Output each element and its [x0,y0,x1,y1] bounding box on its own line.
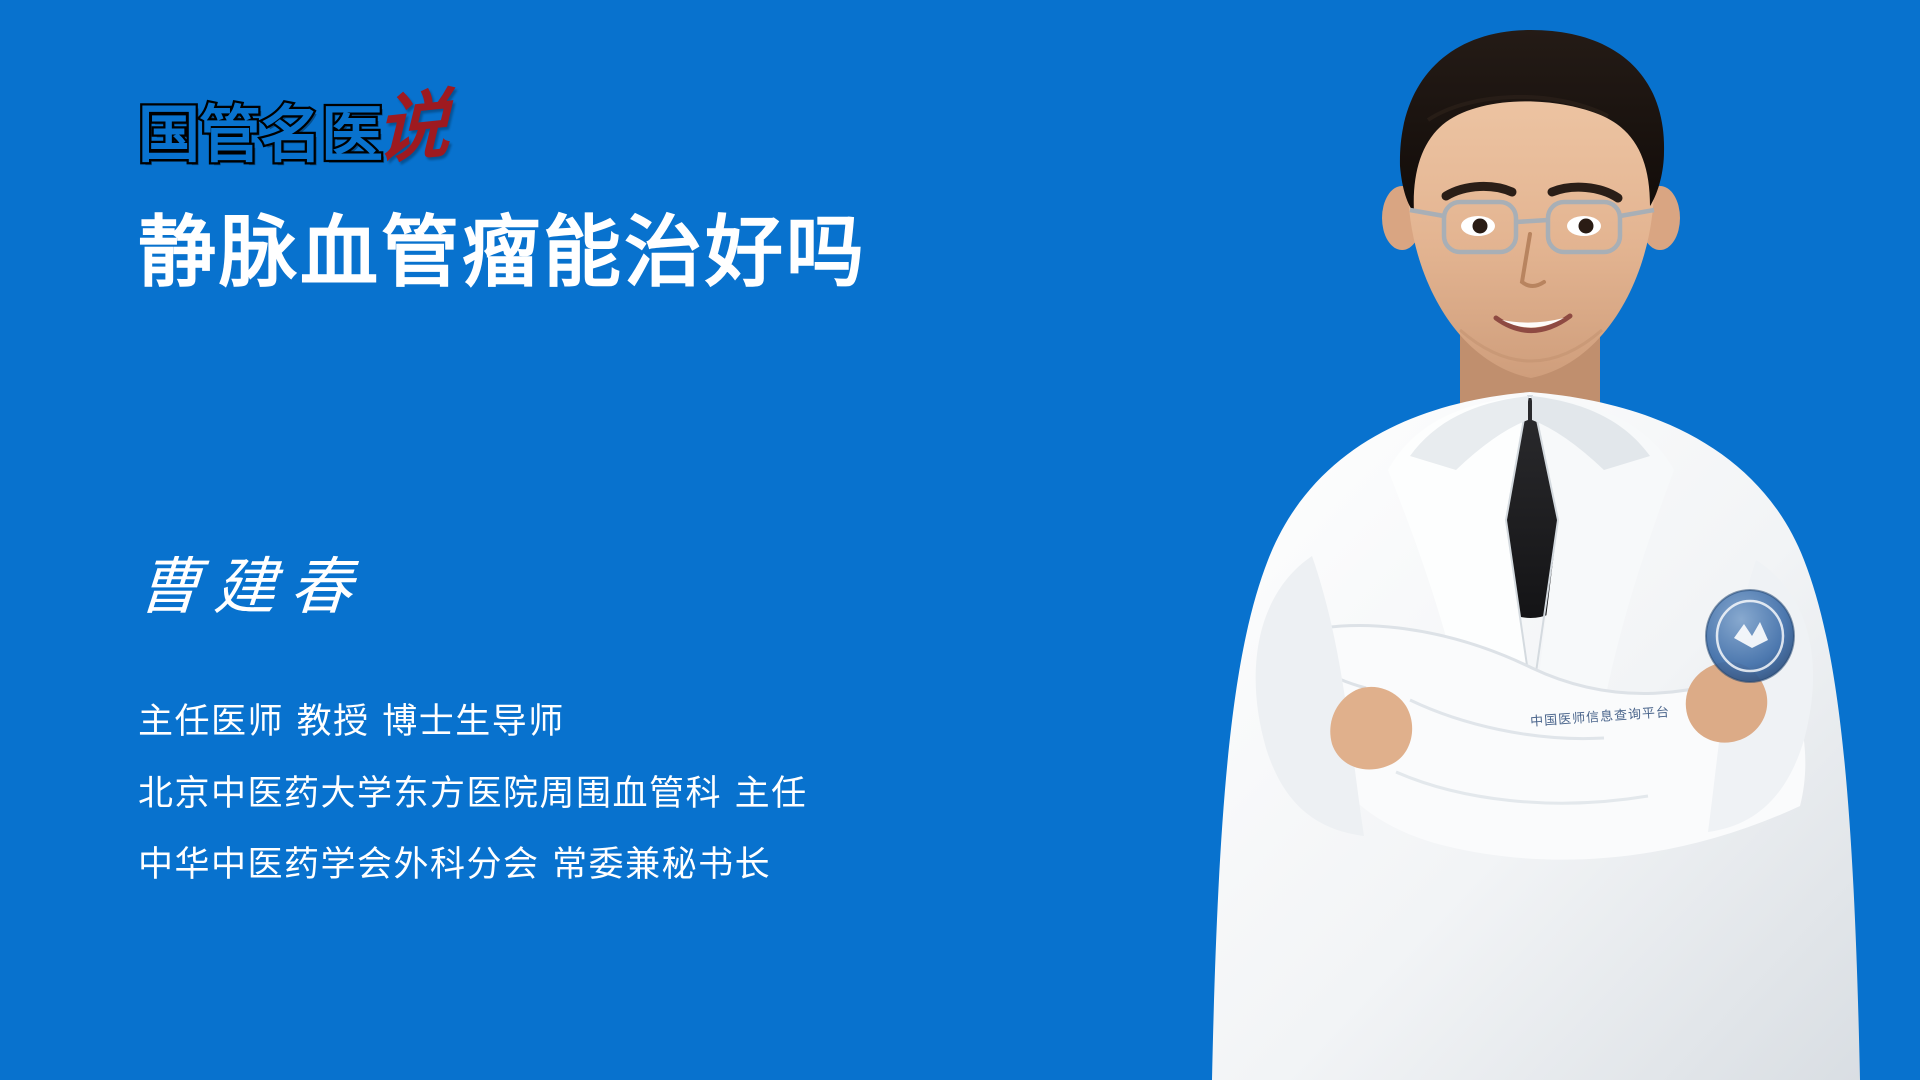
hospital-badge-emblem [1706,590,1794,682]
eyeglasses-shape [1410,202,1654,252]
poster-canvas: 国管名医 说 静脉血管瘤能治好吗 曹建春 主任医师 教授 博士生导师 北京中医药… [0,0,1920,1080]
credential-line: 北京中医药大学东方医院周围血管科 主任 [138,774,808,815]
brand-logo: 国管名医 说 [138,92,450,166]
doctor-portrait-photo [1160,0,1920,1080]
doctor-credentials: 主任医师 教授 博士生导师 北京中医药大学东方医院周围血管科 主任 中华中医药学… [138,702,808,886]
badge-caption-text: 中国医师信息查询平台 [1530,701,1671,730]
brand-logo-accent-text: 说 [376,90,450,166]
brand-logo-main-text: 国管名医 [138,104,382,166]
credential-line: 中华中医药学会外科分会 常委兼秘书长 [138,845,808,886]
credential-line: 主任医师 教授 博士生导师 [138,702,808,743]
page-title: 静脉血管瘤能治好吗 [138,210,867,297]
doctor-name: 曹建春 [136,556,368,618]
